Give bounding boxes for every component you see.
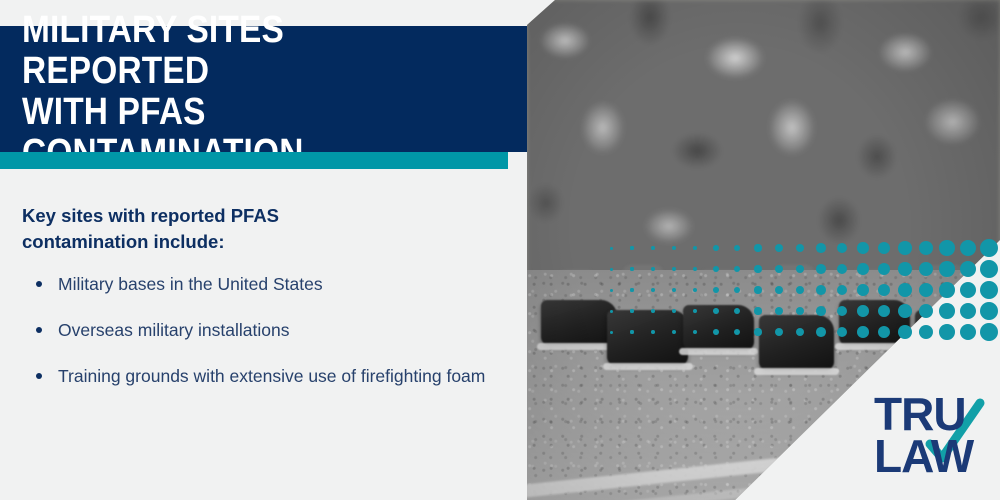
list-item: Training grounds with extensive use of f…: [22, 362, 492, 390]
list-item: Overseas military installations: [22, 316, 492, 344]
bullet-dot-icon: [36, 373, 42, 379]
pattern-dot: [939, 324, 955, 340]
bullet-dot-icon: [36, 281, 42, 287]
page-title: MILITARY SITES REPORTED WITH PFAS CONTAM…: [22, 10, 444, 174]
list-item-label: Overseas military installations: [58, 320, 289, 340]
pattern-dot: [919, 325, 934, 340]
pattern-dot: [980, 323, 998, 341]
svg-text:LAW: LAW: [874, 430, 975, 478]
key-sites-list: Military bases in the United States Over…: [22, 270, 492, 391]
body-content: Key sites with reported PFAS contaminati…: [22, 203, 492, 391]
list-item-label: Military bases in the United States: [58, 274, 323, 294]
pattern-dot: [960, 303, 977, 320]
pattern-dot: [939, 303, 955, 319]
boot-6: [915, 310, 991, 360]
title-banner: MILITARY SITES REPORTED WITH PFAS CONTAM…: [0, 26, 527, 152]
pattern-dot: [980, 260, 998, 278]
trulaw-logo[interactable]: TRU LAW: [868, 378, 988, 478]
accent-bar: [0, 152, 508, 169]
lead-paragraph: Key sites with reported PFAS contaminati…: [22, 203, 382, 256]
pattern-dot: [980, 302, 998, 320]
pattern-dot: [960, 282, 977, 299]
infographic-canvas: MILITARY SITES REPORTED WITH PFAS CONTAM…: [0, 0, 1000, 500]
bullet-dot-icon: [36, 327, 42, 333]
list-item: Military bases in the United States: [22, 270, 492, 298]
list-item-label: Training grounds with extensive use of f…: [58, 366, 485, 386]
logo-wordmark: TRU LAW: [874, 388, 975, 478]
pattern-dot: [960, 324, 977, 341]
pattern-dot: [980, 281, 998, 299]
